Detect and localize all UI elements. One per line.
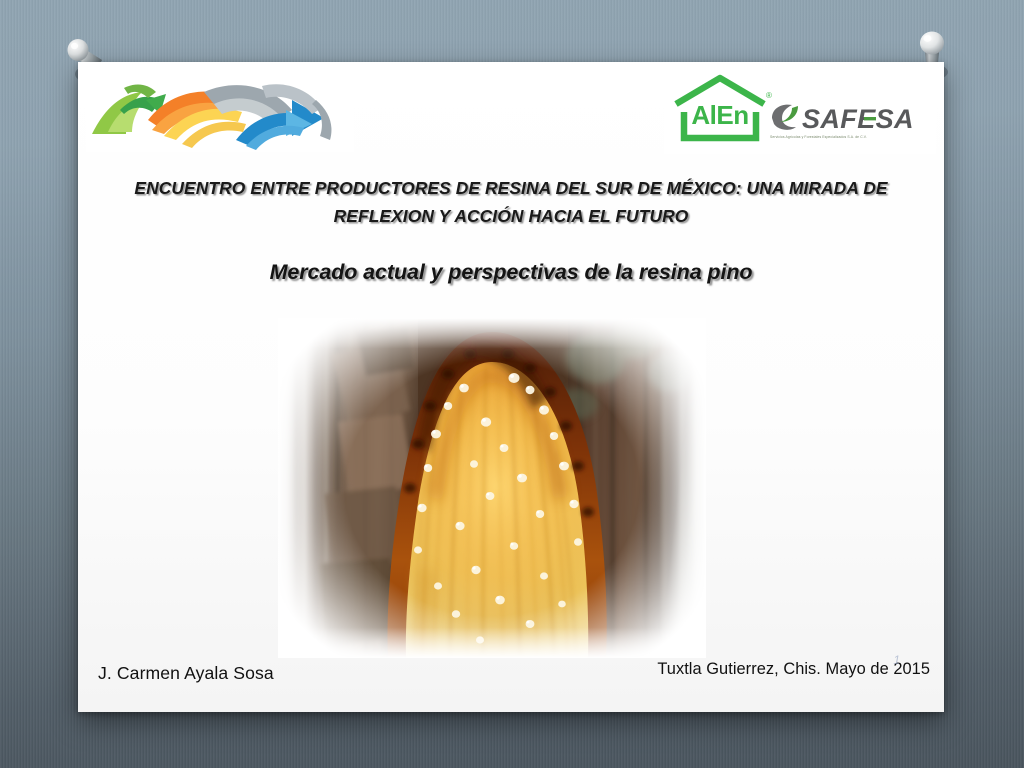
svg-text:SAFESA: SAFESA	[802, 104, 914, 134]
alen-safesa-logo-panel: AlEn ® SAFESA Servicios Agrícolas y Fore…	[664, 70, 936, 154]
colorful-arrows-logo	[86, 70, 354, 152]
svg-text:®: ®	[766, 91, 772, 100]
page-title: ENCUENTRO ENTRE PRODUCTORES DE RESINA DE…	[98, 174, 924, 230]
place-and-date: Tuxtla Gutierrez, Chis. Mayo de 2015	[657, 660, 930, 679]
safesa-logo: SAFESA	[768, 100, 936, 152]
presentation-slide: AlEn ® SAFESA Servicios Agrícolas y Fore…	[78, 62, 944, 712]
safesa-tagline: Servicios Agrícolas y Forestales Especia…	[770, 135, 936, 140]
author-name: J. Carmen Ayala Sosa	[98, 663, 274, 684]
pine-resin-tapping-photo	[278, 318, 706, 658]
logo-strip: AlEn ® SAFESA Servicios Agrícolas y Fore…	[78, 62, 944, 156]
alen-logo: AlEn ®	[668, 72, 776, 146]
slide-surface: AlEn ® SAFESA Servicios Agrícolas y Fore…	[78, 62, 944, 712]
slide-number: 1	[893, 653, 900, 667]
svg-text:AlEn: AlEn	[691, 100, 748, 130]
page-subtitle: Mercado actual y perspectivas de la resi…	[98, 230, 924, 285]
title-block: ENCUENTRO ENTRE PRODUCTORES DE RESINA DE…	[98, 174, 924, 285]
